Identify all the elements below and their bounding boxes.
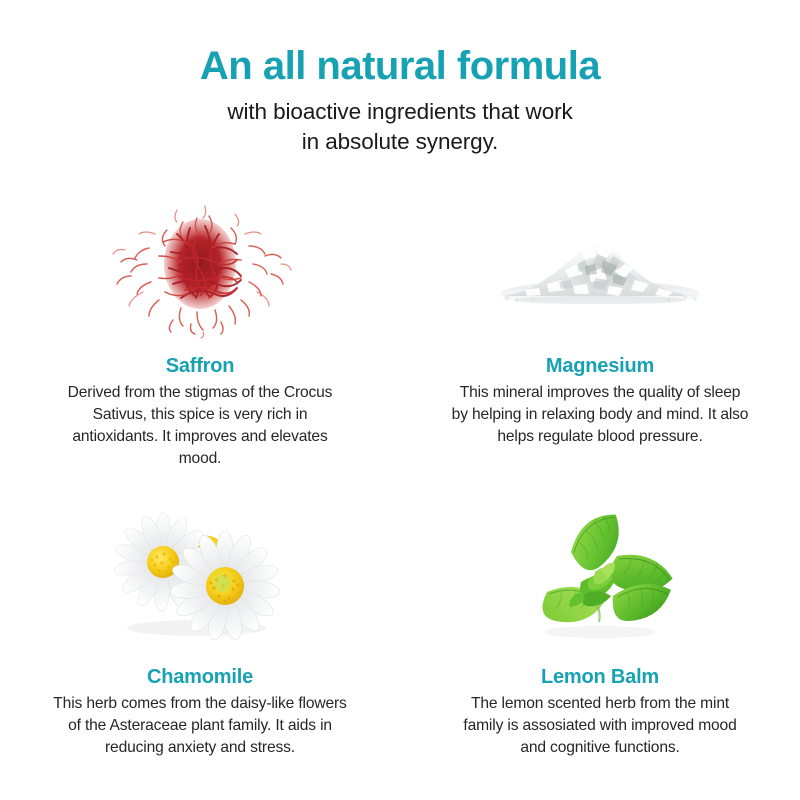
ingredients-grid: Saffron Derived from the stigmas of the … xyxy=(0,180,800,780)
page-subtitle-line-2: in absolute synergy. xyxy=(0,127,800,157)
page-subtitle-line-1: with bioactive ingredients that work xyxy=(0,97,800,127)
page-subtitle: with bioactive ingredients that work in … xyxy=(0,97,800,157)
ingredient-card-saffron: Saffron Derived from the stigmas of the … xyxy=(0,180,400,480)
ingredient-name: Saffron xyxy=(166,354,235,378)
ingredient-card-magnesium: Magnesium This mineral improves the qual… xyxy=(400,180,800,480)
ingredient-name: Chamomile xyxy=(147,665,253,689)
ingredient-card-chamomile: Chamomile This herb comes from the daisy… xyxy=(0,480,400,780)
magnesium-powder-image xyxy=(485,190,715,340)
page-title: An all natural formula xyxy=(0,44,800,89)
ingredient-description: Derived from the stigmas of the Crocus S… xyxy=(50,382,350,471)
ingredient-name: Magnesium xyxy=(546,354,654,378)
ingredient-card-lemonbalm: Lemon Balm The lemon scented herb from t… xyxy=(400,480,800,780)
ingredient-description: This mineral improves the quality of sle… xyxy=(450,382,750,448)
saffron-threads-image xyxy=(85,190,315,340)
ingredient-description: This herb comes from the daisy-like flow… xyxy=(50,693,350,759)
header: An all natural formula with bioactive in… xyxy=(0,44,800,157)
ingredients-infographic: An all natural formula with bioactive in… xyxy=(0,0,800,800)
lemon-balm-leaves-image xyxy=(485,500,715,650)
ingredient-description: The lemon scented herb from the mint fam… xyxy=(450,693,750,759)
chamomile-flowers-image xyxy=(85,500,315,650)
ingredient-name: Lemon Balm xyxy=(541,665,659,689)
